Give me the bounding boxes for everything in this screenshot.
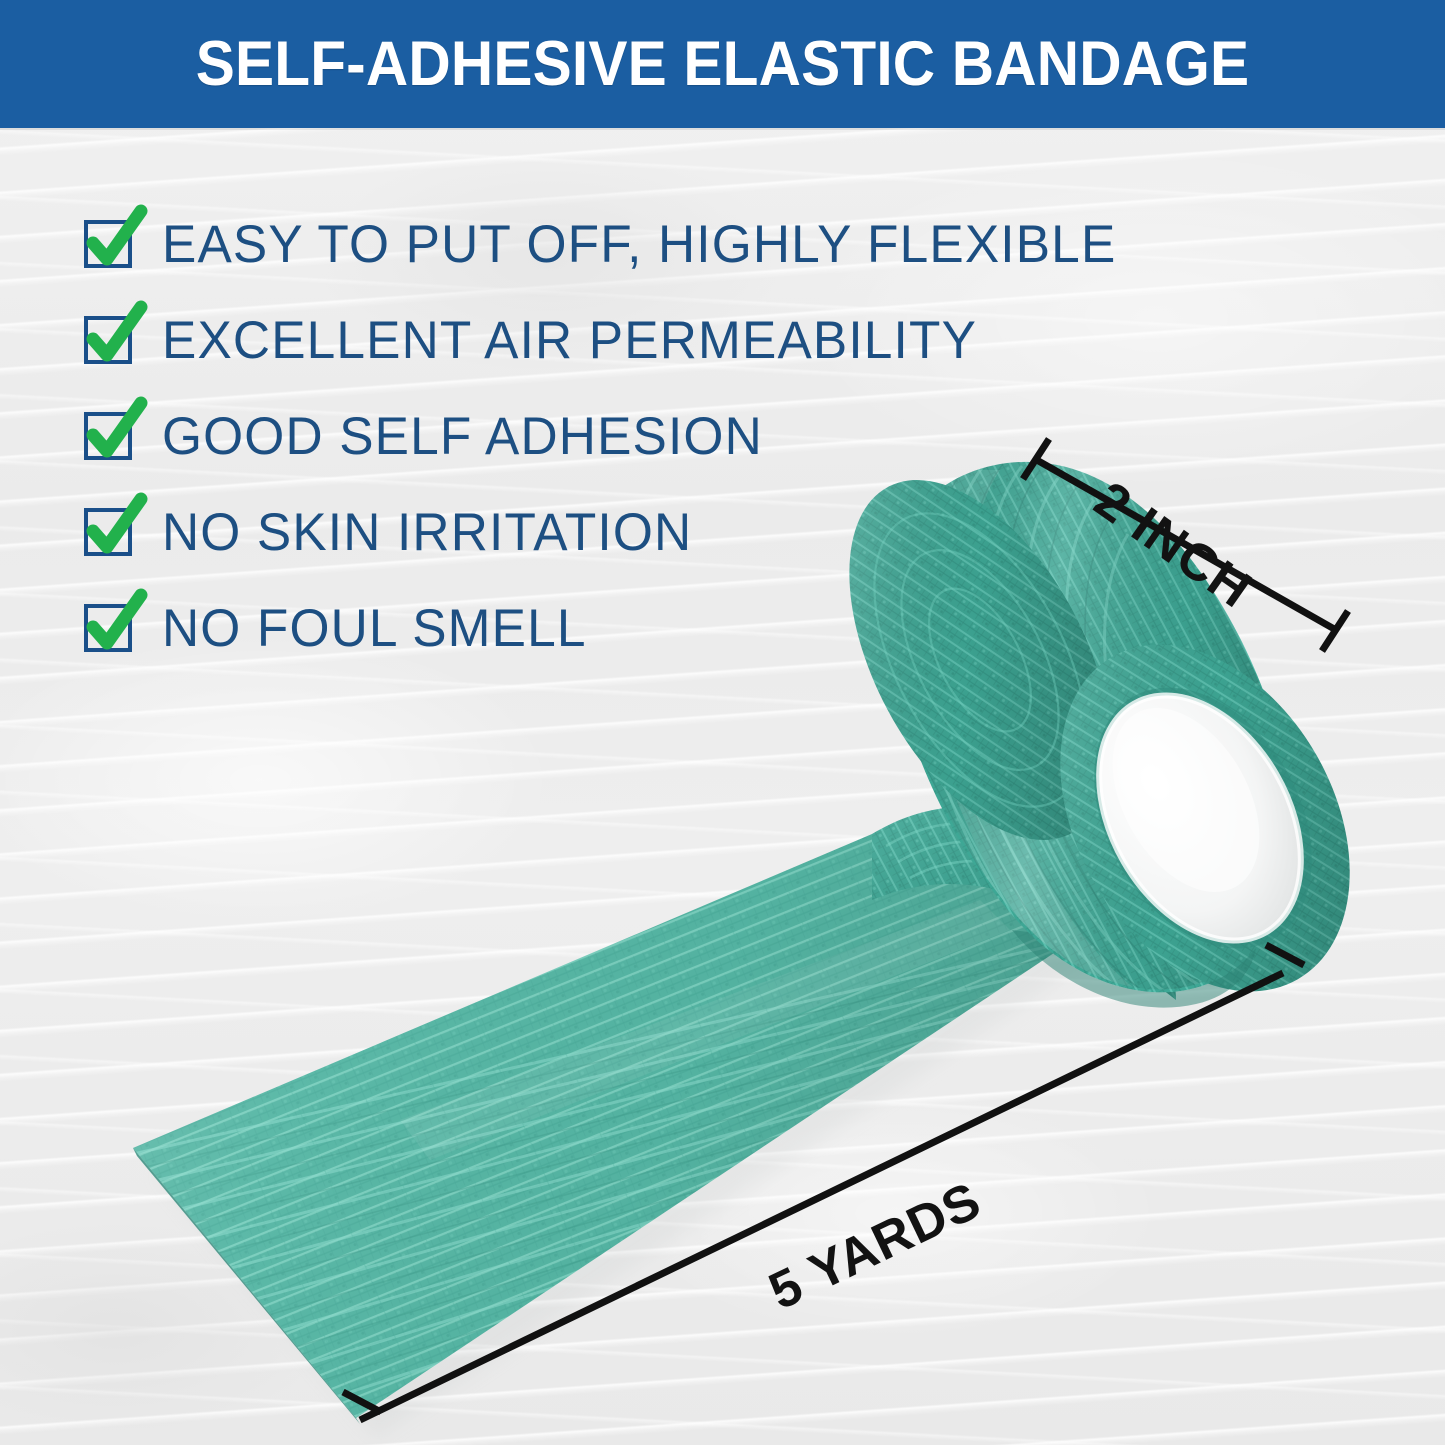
product-infographic: 2 INCH 5 YARDS EASY TO PUT OFF, HIGHLY F… bbox=[0, 0, 1445, 1445]
dimension-annotations: 2 INCH 5 YARDS bbox=[0, 0, 1445, 1445]
page-title: SELF-ADHESIVE ELASTIC BANDAGE bbox=[51, 0, 1395, 128]
header-banner: SELF-ADHESIVE ELASTIC BANDAGE bbox=[0, 0, 1445, 128]
dimension-line-length bbox=[343, 945, 1304, 1420]
